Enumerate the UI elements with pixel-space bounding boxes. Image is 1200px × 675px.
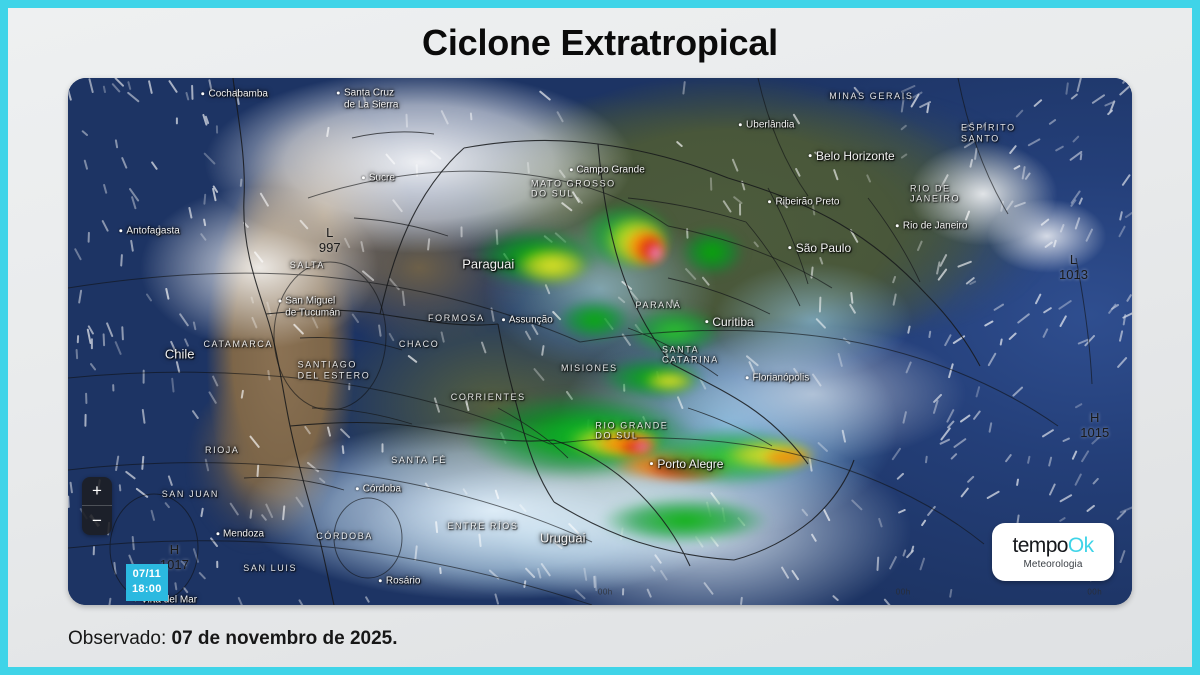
- map-pressure-center-l: L 997: [319, 226, 341, 256]
- map-label-city: Belo Horizonte: [816, 150, 895, 164]
- timestamp-badge[interactable]: 07/11 18:00: [126, 564, 168, 601]
- title-bar: Ciclone Extratropical: [8, 8, 1192, 78]
- timestamp-time: 18:00: [132, 582, 162, 597]
- map-label-state: CATAMARCA: [203, 339, 273, 349]
- map-label-state: RIO GRANDE DO SUL: [595, 421, 668, 442]
- map-label-state: CORRIENTES: [451, 392, 526, 402]
- map-label-state: CÓRDOBA: [316, 531, 373, 541]
- poster-canvas: Ciclone Extratropical: [0, 0, 1200, 675]
- map-time-mark: 00h: [598, 587, 613, 596]
- map-label-city: Cochabamba: [208, 88, 267, 100]
- map-pressure-center-l: L 1013: [1059, 253, 1088, 283]
- map-label-city: Curitiba: [712, 316, 753, 330]
- map-label-state: CHACO: [399, 339, 440, 349]
- map-label-city: Ribeirão Preto: [776, 196, 840, 208]
- map-label-state: ENTRE RÍOS: [447, 521, 518, 531]
- map-pressure-center-h: H 1015: [1080, 411, 1109, 441]
- poster-card: Ciclone Extratropical: [8, 8, 1192, 667]
- map-label-city: São Paulo: [796, 242, 851, 256]
- map-label-state: RIOJA: [205, 444, 240, 454]
- logo-wordmark: tempoOk: [1012, 535, 1093, 556]
- logo-text-ok: Ok: [1068, 534, 1094, 557]
- map-label-state: MATO GROSSO DO SUL: [531, 178, 616, 199]
- map-label-city: Sucre: [369, 172, 395, 184]
- map-label-state: SANTA CATARINA: [662, 344, 719, 365]
- map-label-state: MISIONES: [561, 363, 618, 373]
- map-label-country: Uruguai: [540, 532, 586, 547]
- map-labels-layer: ChileParaguaiUruguaiSALTAFORMOSACHACOCAT…: [68, 78, 1132, 605]
- weather-map[interactable]: ChileParaguaiUruguaiSALTAFORMOSACHACOCAT…: [68, 78, 1132, 605]
- map-label-state: FORMOSA: [428, 313, 485, 323]
- map-label-city: Antofagasta: [126, 225, 179, 237]
- map-label-city: Rio de Janeiro: [903, 220, 967, 232]
- map-label-city: San Miguel de Tucumán: [285, 296, 340, 319]
- map-label-state: SAN LUIS: [243, 563, 297, 573]
- map-label-city: Porto Alegre: [657, 458, 723, 472]
- zoom-out-button[interactable]: −: [82, 506, 112, 535]
- zoom-in-button[interactable]: +: [82, 477, 112, 506]
- map-label-state: SAN JUAN: [162, 489, 219, 499]
- map-label-city: Santa Cruz de La Sierra: [344, 88, 398, 111]
- map-label-city: Uberlândia: [746, 120, 794, 132]
- map-label-state: ESPÍRITO SANTO: [961, 123, 1016, 144]
- map-label-state: PARANÁ: [636, 299, 682, 309]
- map-zoom-controls[interactable]: + −: [82, 477, 112, 535]
- logo-text-tempo: tempo: [1012, 534, 1067, 557]
- map-label-state: MINAS GERAIS: [829, 91, 913, 101]
- caption: Observado: 07 de novembro de 2025.: [68, 628, 398, 650]
- map-label-state: RIO DE JANEIRO: [910, 184, 960, 205]
- logo-subtitle: Meteorologia: [1023, 559, 1082, 570]
- map-label-city: Mendoza: [223, 528, 264, 540]
- tempook-logo: tempoOk Meteorologia: [992, 523, 1114, 581]
- map-label-state: SALTA: [290, 260, 325, 270]
- map-label-country: Chile: [165, 347, 195, 362]
- map-label-state: SANTIAGO DEL ESTERO: [298, 360, 371, 381]
- map-label-city: Florianópolis: [753, 373, 810, 385]
- map-time-mark: 00h: [1087, 587, 1102, 596]
- map-label-city: Campo Grande: [576, 164, 644, 176]
- map-layers: ChileParaguaiUruguaiSALTAFORMOSACHACOCAT…: [68, 78, 1132, 605]
- map-label-city: Córdoba: [363, 483, 401, 495]
- map-label-city: Rosário: [386, 576, 420, 588]
- caption-date: 07 de novembro de 2025.: [172, 628, 398, 649]
- map-label-city: Assunção: [509, 315, 553, 327]
- caption-label: Observado:: [68, 628, 166, 649]
- page-title: Ciclone Extratropical: [422, 22, 778, 64]
- map-time-mark: 00h: [896, 587, 911, 596]
- timestamp-date: 07/11: [132, 567, 162, 582]
- map-label-country: Paraguai: [462, 258, 514, 273]
- map-label-state: SANTA FÉ: [391, 455, 447, 465]
